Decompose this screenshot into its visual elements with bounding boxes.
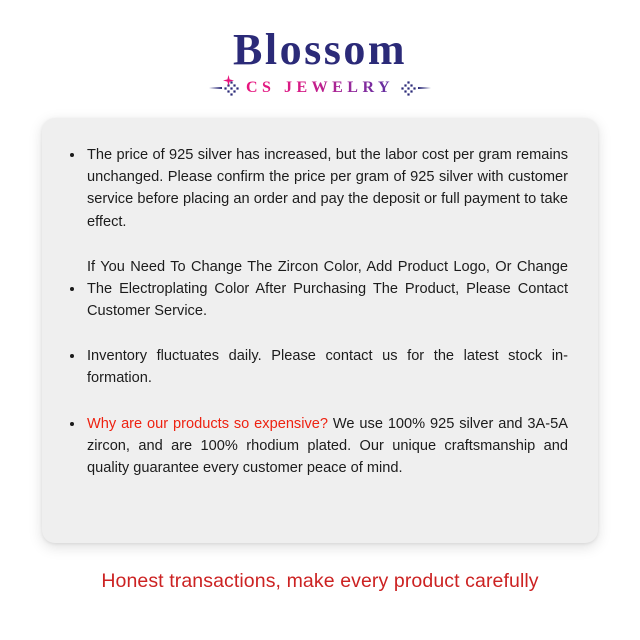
notice-list: The price of 925 silver has increased, b… bbox=[70, 144, 568, 479]
brand-wordmark-text: Blossom bbox=[233, 25, 407, 74]
bullet-icon bbox=[70, 422, 74, 426]
brand-header: Blossom CS JEWELRY bbox=[0, 0, 640, 97]
list-item: Inventory fluctuates daily. Please conta… bbox=[70, 345, 568, 389]
ornament-dash-right bbox=[418, 87, 431, 89]
notice-item-text: Inventory fluctuates daily. Please conta… bbox=[87, 345, 568, 389]
notice-item-text: The price of 925 silver has increased, b… bbox=[87, 144, 568, 233]
list-item: Why are our products so expensive? We us… bbox=[70, 413, 568, 480]
footer-slogan: Honest transactions, make every product … bbox=[0, 570, 640, 593]
diamond-sparkle-icon bbox=[223, 50, 234, 61]
brand-tagline-row: CS JEWELRY bbox=[0, 79, 640, 97]
notice-item-emphasis: Why are our products so expensive? bbox=[87, 416, 328, 432]
snowflake-ornament-icon bbox=[401, 81, 431, 96]
notice-item-text: Why are our products so expensive? We us… bbox=[87, 413, 568, 480]
ornament-dash-left bbox=[209, 87, 222, 89]
bullet-icon bbox=[70, 153, 74, 157]
list-item: If You Need To Change The Zircon Color, … bbox=[70, 256, 568, 323]
bullet-icon bbox=[70, 287, 74, 291]
list-item: The price of 925 silver has increased, b… bbox=[70, 144, 568, 233]
bullet-icon bbox=[70, 354, 74, 358]
notice-card: The price of 925 silver has increased, b… bbox=[42, 118, 598, 543]
brand-wordmark: Blossom bbox=[219, 28, 421, 72]
brand-tagline-text: CS JEWELRY bbox=[246, 79, 394, 97]
notice-item-text: If You Need To Change The Zircon Color, … bbox=[87, 256, 568, 323]
